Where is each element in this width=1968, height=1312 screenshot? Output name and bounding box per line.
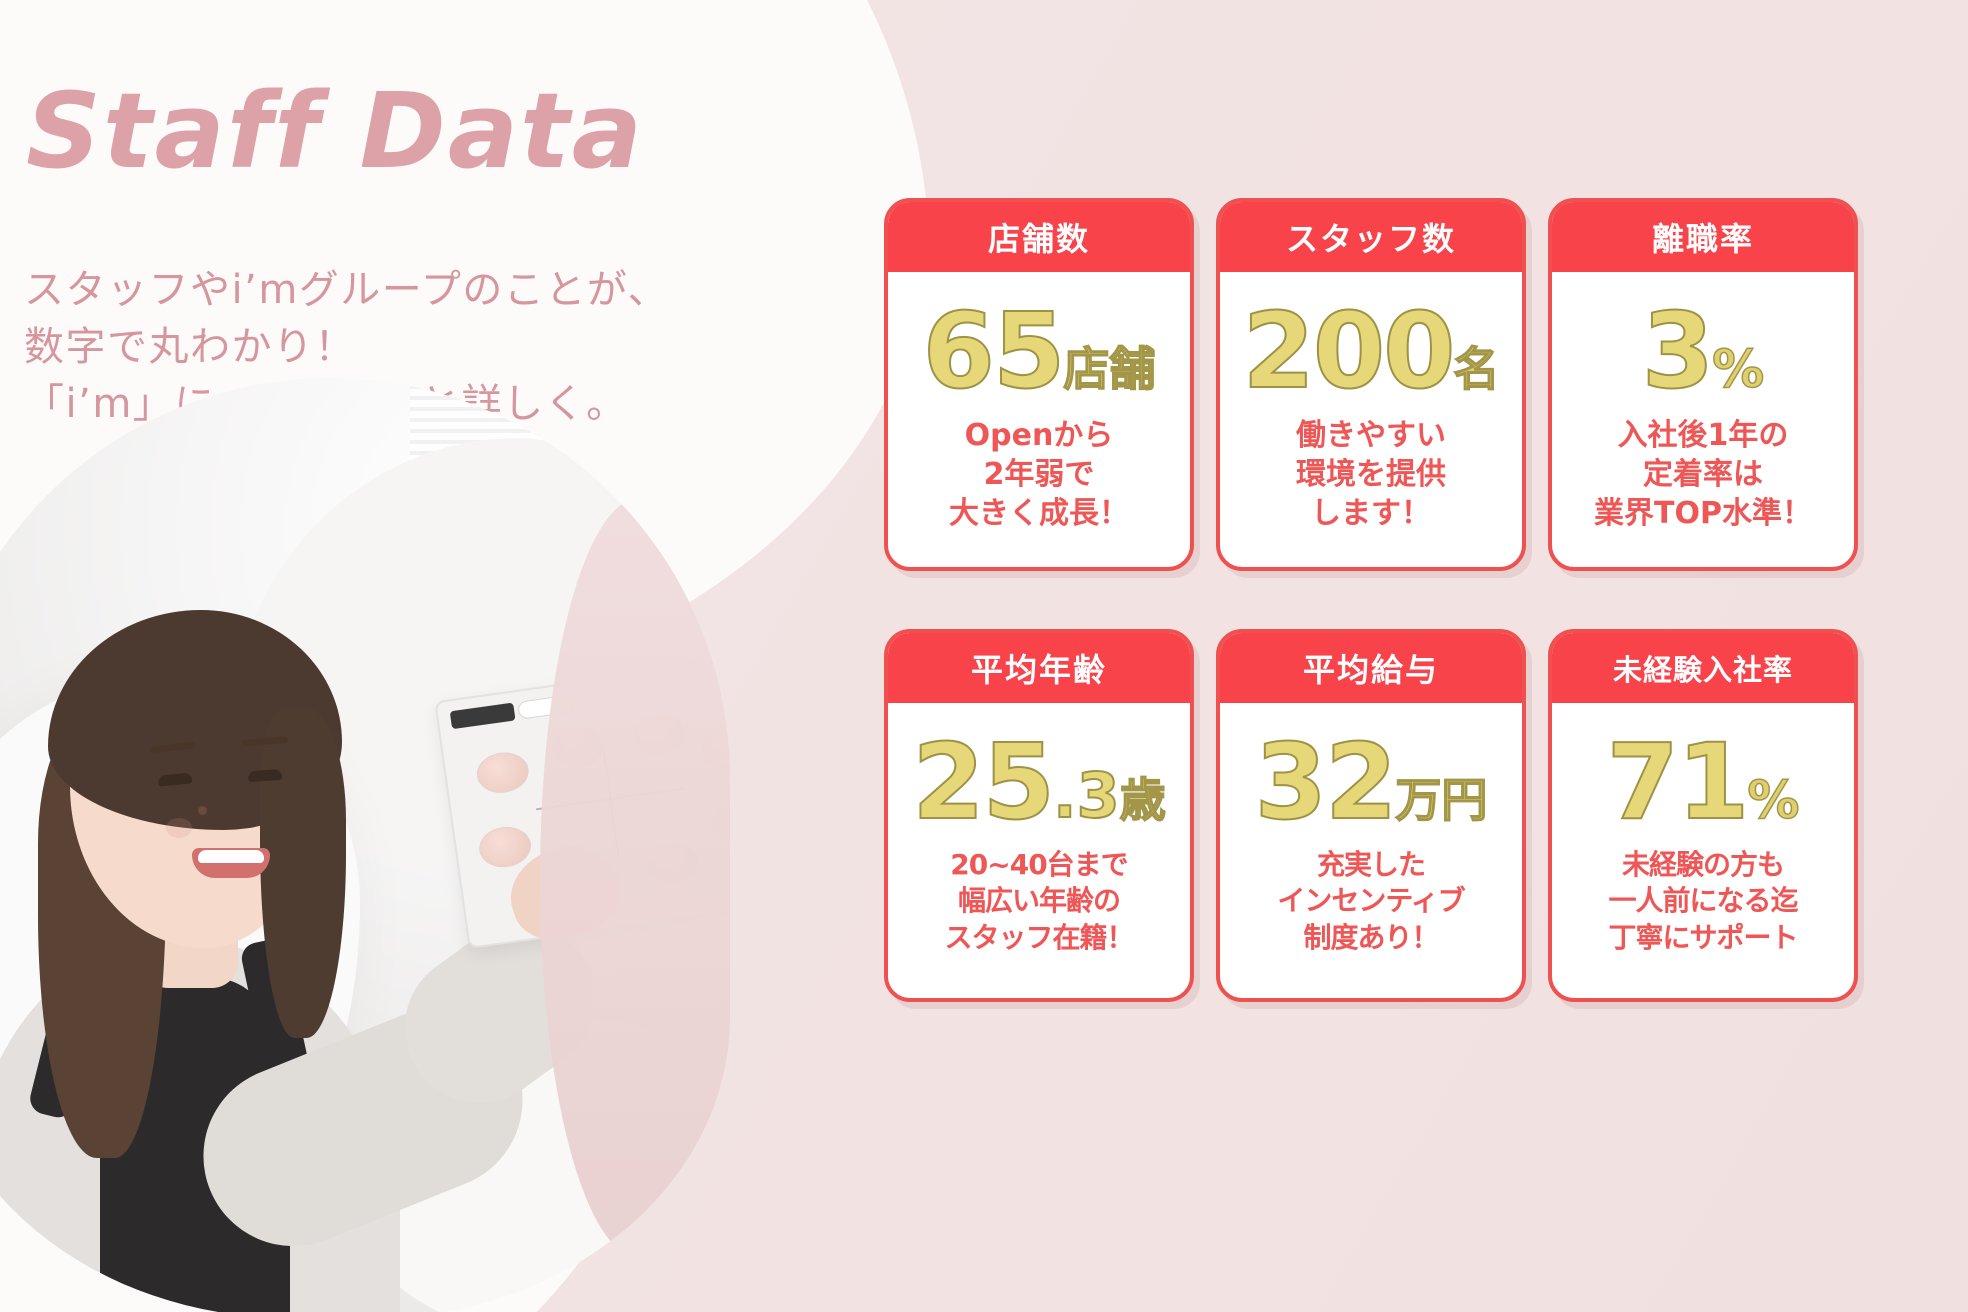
stat-number: 200 — [1242, 302, 1453, 402]
stat-unit: % — [1712, 344, 1764, 396]
stat-number: 71 — [1607, 733, 1748, 833]
stat-desc-line: スタッフ在籍！ — [944, 920, 1133, 956]
stat-desc-line: 定着率は — [1594, 455, 1812, 494]
stat-desc-line: 一人前になる迄 — [1608, 883, 1797, 919]
stat-desc-line: 20~40台まで — [944, 847, 1133, 883]
stat-desc-line: Openから — [949, 416, 1129, 455]
lead-line-1: スタッフやi’mグループのことが、 — [24, 262, 669, 319]
person-mole — [198, 806, 207, 815]
stat-card-description: Openから 2年弱で 大きく成長！ — [943, 416, 1135, 533]
stat-unit: % — [1747, 775, 1799, 827]
stat-value-row: 200 名 — [1220, 284, 1522, 402]
stat-value-row: 25 .3 歳 — [888, 715, 1190, 833]
stat-card-turnover-rate: 離職率 3 % 入社後1年の 定着率は 業界TOP水準！ — [1548, 198, 1858, 571]
stat-card-average-age: 平均年齢 25 .3 歳 20~40台まで 幅広い年齢の スタッフ在籍！ — [884, 629, 1194, 1002]
stat-card-description: 働きやすい 環境を提供 します！ — [1290, 416, 1452, 533]
stat-desc-line: 大きく成長！ — [949, 494, 1129, 533]
stat-card-description: 20~40台まで 幅広い年齢の スタッフ在籍！ — [938, 847, 1139, 956]
chart-sheet-cell — [477, 824, 534, 871]
stat-card-header: 平均年齢 — [888, 633, 1190, 703]
stat-card-description: 未経験の方も 一人前になる迄 丁寧にサポート — [1602, 847, 1803, 956]
staff-data-banner: Staff Data スタッフやi’mグループのことが、 数字で丸わかり！ 「i… — [0, 0, 1968, 1312]
stat-desc-line: 2年弱で — [949, 455, 1129, 494]
stat-number: 65 — [923, 302, 1064, 402]
stat-value-row: 71 % — [1552, 715, 1854, 833]
stat-desc-line: 業界TOP水準！ — [1594, 494, 1812, 533]
stat-desc-line: インセンティブ — [1277, 883, 1464, 919]
stat-card-grid: 店舗数 65 店舗 Openから 2年弱で 大きく成長！ スタッフ数 200 名… — [884, 198, 1944, 1002]
page-title: Staff Data — [26, 70, 644, 192]
stat-card-stores: 店舗数 65 店舗 Openから 2年弱で 大きく成長！ — [884, 198, 1194, 571]
stat-card-header: 未経験入社率 — [1552, 633, 1854, 703]
stat-value-row: 65 店舗 — [888, 284, 1190, 402]
person-teeth — [198, 850, 264, 863]
stat-card-header: 平均給与 — [1220, 633, 1522, 703]
stat-number: 25 — [912, 733, 1053, 833]
stat-desc-line: 働きやすい — [1296, 416, 1446, 455]
stat-unit: 万円 — [1395, 777, 1487, 823]
chart-sheet-tag — [450, 703, 516, 730]
staff-photo — [0, 378, 730, 1312]
stat-unit: 名 — [1454, 346, 1500, 392]
stat-card-description: 充実した インセンティブ 制度あり！ — [1271, 847, 1470, 956]
stat-card-description: 入社後1年の 定着率は 業界TOP水準！ — [1588, 416, 1818, 533]
stat-number-decimal: .3 — [1053, 765, 1120, 827]
stat-number: 3 — [1642, 302, 1712, 402]
stat-unit: 店舗 — [1063, 346, 1155, 392]
stat-unit: 歳 — [1120, 777, 1166, 823]
stat-desc-line: 入社後1年の — [1594, 416, 1812, 455]
left-column: Staff Data スタッフやi’mグループのことが、 数字で丸わかり！ 「i… — [0, 0, 880, 1312]
stat-card-header: 店舗数 — [888, 202, 1190, 272]
stat-desc-line: します！ — [1296, 494, 1446, 533]
photo-pink-wedge — [540, 498, 730, 1258]
person-hair-side-right — [260, 708, 346, 1038]
stat-value-row: 32 万円 — [1220, 715, 1522, 833]
stat-desc-line: 環境を提供 — [1296, 455, 1446, 494]
stat-desc-line: 制度あり！ — [1277, 920, 1464, 956]
stat-card-average-salary: 平均給与 32 万円 充実した インセンティブ 制度あり！ — [1216, 629, 1526, 1002]
stat-value-row: 3 % — [1552, 284, 1854, 402]
chart-sheet-cell — [474, 749, 531, 796]
stat-desc-line: 丁寧にサポート — [1608, 920, 1797, 956]
stat-desc-line: 幅広い年齢の — [944, 883, 1133, 919]
person-eye-right — [248, 769, 283, 782]
stat-card-header: 離職率 — [1552, 202, 1854, 272]
stat-card-inexperienced-hire-rate: 未経験入社率 71 % 未経験の方も 一人前になる迄 丁寧にサポート — [1548, 629, 1858, 1002]
stat-desc-line: 未経験の方も — [1608, 847, 1797, 883]
stat-number: 32 — [1255, 733, 1396, 833]
person-cheek — [166, 818, 192, 838]
lead-line-2: 数字で丸わかり！ — [24, 319, 669, 376]
stat-card-header: スタッフ数 — [1220, 202, 1522, 272]
stat-desc-line: 充実した — [1277, 847, 1464, 883]
stat-card-staff-count: スタッフ数 200 名 働きやすい 環境を提供 します！ — [1216, 198, 1526, 571]
